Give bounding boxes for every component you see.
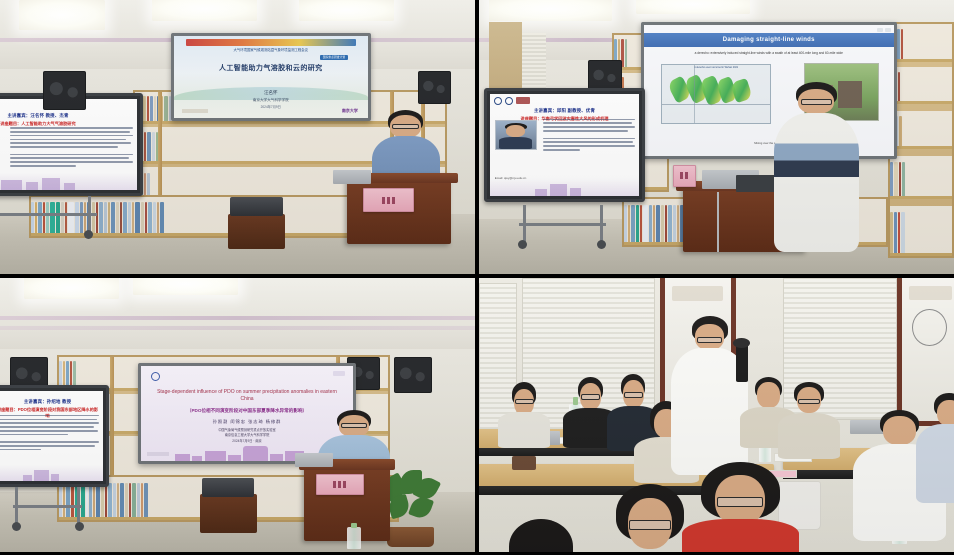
slide-footer-bar — [182, 109, 208, 113]
eyeglasses — [515, 399, 534, 404]
audience-member-foreground — [503, 519, 579, 552]
slide-speaker-bio: 主讲嘉宾：邱阳 副教授、优青 讲座题目：华南弓状回波灾害性大风的形成机理 — [490, 94, 640, 196]
eyeglasses — [581, 394, 601, 400]
eyeglasses — [341, 423, 367, 428]
eyeglasses — [629, 520, 670, 530]
laptop — [333, 170, 371, 184]
tv-screen: 主讲嘉宾：邱阳 副教授、优青 讲座题目：华南弓状回波灾害性大风的形成机理 — [490, 94, 640, 196]
eyeglasses — [717, 497, 763, 507]
microphone-stand — [717, 192, 719, 252]
plant-pot — [387, 527, 434, 547]
cart-caster — [518, 240, 527, 249]
university-seal-icon — [494, 97, 502, 105]
ceiling-light — [24, 278, 119, 299]
tv-display[interactable]: 主讲嘉宾：孙绍地 教授 讲座题目：PDO位相演变阶段对我国东部地区降水的影响 — [0, 385, 109, 488]
cart-caster — [597, 240, 606, 249]
slide-banner-text: 大气环境国家气候观测站暨气象环境监测工程会议 — [209, 47, 333, 52]
bio-skyline-graphic — [0, 173, 137, 189]
door-ornament — [672, 286, 722, 301]
ceiling-light — [489, 0, 613, 21]
bio-skyline-graphic — [0, 465, 103, 481]
door-ornament — [909, 286, 952, 300]
slide-title-bar: Damaging straight-line winds — [644, 33, 895, 47]
bookshelf-row — [890, 206, 953, 256]
ceiling-light — [152, 0, 257, 21]
ceiling-trim — [0, 316, 475, 320]
loudspeaker — [43, 71, 86, 109]
slide-speaker-bio: 主讲嘉宾：汪名怀 教授、杰青 讲座题目：人工智能助力大气气溶胶研究 — [0, 99, 137, 190]
bio-header: 主讲嘉宾：孙绍地 教授 — [0, 399, 98, 405]
speaker-portrait — [495, 120, 537, 151]
photo-collage: 大气环境国家气候观测站暨气象环境监测工程会议 国家重点研发计划 人工智能助力气溶… — [0, 0, 954, 555]
wallet — [512, 456, 536, 470]
audience-member — [783, 382, 835, 459]
bio-paragraph — [10, 127, 132, 169]
nameplate — [316, 474, 364, 495]
ceiling-light — [133, 278, 238, 295]
rolling-tv-cart[interactable]: 主讲嘉宾：邱阳 副教授、优青 讲座题目：华南弓状回波灾害性大风的形成机理 — [484, 88, 646, 247]
printer — [202, 478, 254, 497]
slide-speaker-bio: 主讲嘉宾：孙绍地 教授 讲座题目：PDO位相演变阶段对我国东部地区降水的影响 — [0, 391, 103, 482]
map-caption: A derecho event occurred in Wuhan 2021 — [662, 66, 770, 69]
cart-crossbar — [13, 505, 82, 508]
slide-window-controls[interactable] — [877, 28, 891, 32]
cart-crossbar — [0, 213, 97, 216]
ceiling-light — [19, 0, 105, 30]
eyeglasses — [798, 399, 820, 404]
audience-member-foreground — [688, 462, 793, 552]
ceiling — [0, 278, 475, 355]
panel-top-right[interactable]: Damaging straight-line winds a derecho: … — [479, 0, 954, 274]
lab-seal-icon — [505, 97, 513, 105]
tv-screen: 主讲嘉宾：孙绍地 教授 讲座题目：PDO位相演变阶段对我国东部地区降水的影响 — [0, 391, 103, 482]
bio-paragraph — [0, 415, 99, 453]
bio-logos — [494, 97, 530, 105]
bookshelf-row — [890, 156, 953, 198]
presenter — [774, 82, 860, 252]
university-seal-icon — [151, 372, 160, 381]
slide-title-en: Stage-dependent influence of PDO on summ… — [156, 389, 339, 404]
rolling-tv-cart[interactable]: 主讲嘉宾：汪名怀 教授、杰青 讲座题目：人工智能助力大气气溶胶研究 — [0, 93, 143, 235]
bookshelf-row — [890, 67, 953, 105]
nameplate — [363, 188, 413, 212]
slide-ai-aerosol: 大气环境国家气候观测站暨气象环境监测工程会议 国家重点研发计划 人工智能助力气溶… — [174, 36, 368, 118]
slide-window-controls[interactable] — [333, 371, 345, 376]
slide-title: 人工智能助力气溶胶和云的研究 — [186, 63, 356, 73]
slide-title: Damaging straight-line winds — [723, 37, 815, 43]
ceiling-trim — [0, 326, 475, 330]
map-roads — [662, 104, 770, 105]
audience-member — [921, 393, 954, 503]
bookshelf-row — [890, 111, 953, 149]
loudspeaker — [394, 357, 432, 393]
bookshelf-row — [890, 24, 953, 62]
audience-member-foreground — [607, 484, 693, 553]
cart-caster — [75, 522, 84, 531]
slide-seal: 南京大学 — [342, 108, 358, 114]
bio-header: 主讲嘉宾：邱阳 副教授、优青 — [495, 108, 635, 114]
bio-skyline-graphic — [490, 178, 640, 196]
shelf-divider — [110, 357, 114, 485]
panel-bottom-left[interactable]: Stage-dependent influence of PDO on summ… — [0, 278, 475, 552]
slide-tag: 国家重点研发计划 — [320, 55, 348, 60]
laptop — [295, 453, 333, 467]
map-roads — [694, 65, 695, 123]
printer — [230, 197, 282, 216]
slide-affiliation: 南京大学大气科学学院 — [174, 98, 368, 103]
wall-fan-panel-icon — [912, 309, 947, 346]
microphone-head-icon — [733, 338, 750, 348]
ceiling-light — [299, 0, 394, 21]
eyeglasses — [697, 337, 723, 343]
cart-crossbar — [519, 223, 606, 226]
audience-member — [503, 382, 546, 448]
slide-date: 2024年7月9日 — [174, 104, 368, 109]
panel-top-left[interactable]: 大气环境国家气候观测站暨气象环境监测工程会议 国家重点研发计划 人工智能助力气溶… — [0, 0, 475, 274]
printer-table — [228, 214, 285, 250]
cart-caster — [12, 522, 21, 531]
cart-caster — [84, 230, 93, 239]
printer-table — [200, 494, 257, 532]
slide-footer-bar — [147, 452, 169, 456]
rolling-tv-cart[interactable]: 主讲嘉宾：孙绍地 教授 讲座题目：PDO位相演变阶段对我国东部地区降水的影响 — [0, 385, 109, 527]
slide-subtitle: a derecho: extensively induced straight-… — [656, 51, 881, 55]
audience-member — [569, 377, 612, 448]
slide-title-cn: （PDO位相不同演变阶段对中国东部夏季降水异常的影响） — [156, 408, 339, 414]
bookshelf — [888, 22, 954, 258]
bio-paragraph — [543, 119, 636, 153]
bio-header: 主讲嘉宾：汪名怀 教授、杰青 — [0, 113, 132, 119]
institute-logo-icon — [516, 97, 530, 104]
tv-display[interactable]: 主讲嘉宾：邱阳 副教授、优青 讲座题目：华南弓状回波灾害性大风的形成机理 — [484, 88, 646, 202]
derecho-map: A derecho event occurred in Wuhan 2021 — [661, 64, 771, 124]
tv-screen: 主讲嘉宾：汪名怀 教授、杰青 讲座题目：人工智能助力大气气溶胶研究 — [0, 99, 137, 190]
slide-presenter: 汪名怀 — [174, 90, 368, 96]
loudspeaker — [418, 71, 451, 104]
eyeglasses — [392, 124, 419, 129]
ceiling-light — [636, 0, 750, 14]
eyeglasses — [624, 392, 644, 397]
projection-screen[interactable]: 大气环境国家气候观测站暨气象环境监测工程会议 国家重点研发计划 人工智能助力气溶… — [171, 33, 371, 121]
nameplate — [673, 165, 695, 186]
panel-bottom-right[interactable] — [479, 278, 954, 552]
eyeglasses — [801, 99, 832, 105]
slide-banner-stripe — [186, 39, 356, 46]
water-bottle — [347, 527, 361, 549]
plant-leaf — [408, 495, 434, 522]
